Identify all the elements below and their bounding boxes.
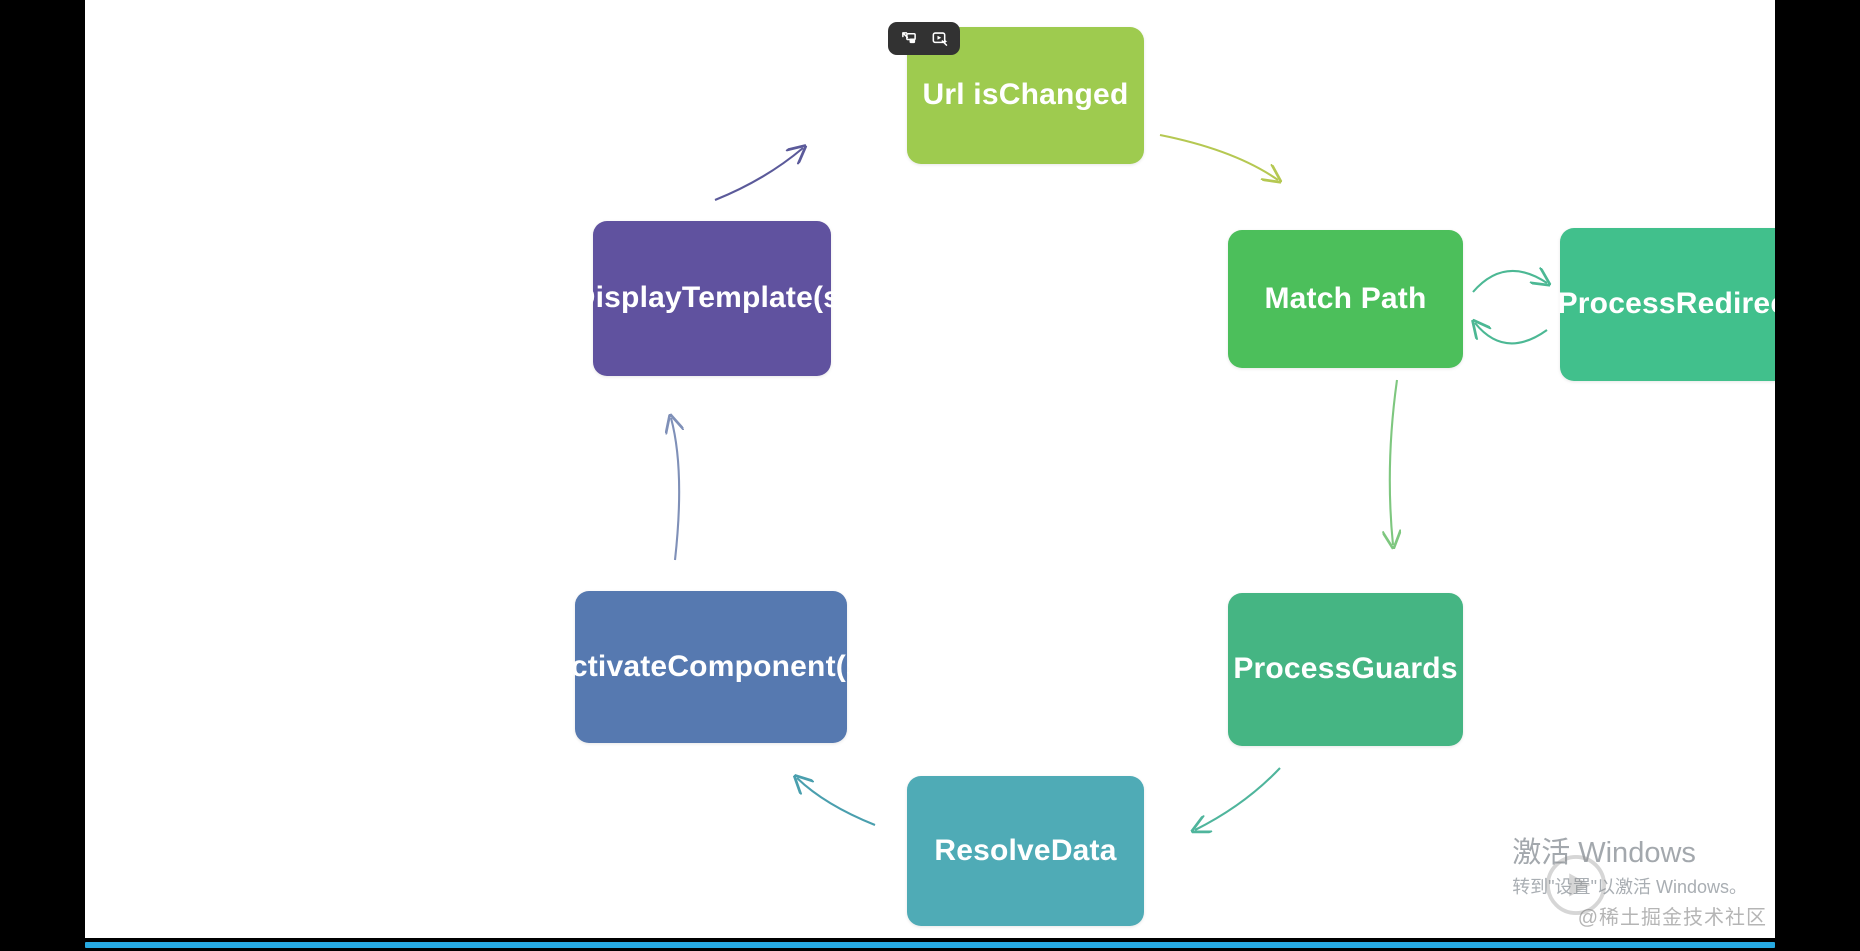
edge-redirect-to-match bbox=[1475, 323, 1547, 343]
node-label-line: Url is bbox=[923, 77, 999, 114]
edge-activate-to-display bbox=[671, 418, 679, 560]
video-floating-toolbar[interactable] bbox=[888, 22, 960, 55]
node-label-line: Process bbox=[1233, 651, 1351, 688]
node-label-line: Resolve bbox=[934, 833, 1050, 870]
node-resolve-data[interactable]: ResolveData bbox=[907, 776, 1144, 926]
node-label-line: Redirect bbox=[1676, 286, 1775, 323]
node-label-line: Component(s) bbox=[667, 649, 873, 686]
node-process-guards[interactable]: ProcessGuards bbox=[1228, 593, 1463, 746]
video-progress-fill[interactable] bbox=[85, 942, 1775, 948]
node-label-line: Template(s) bbox=[682, 280, 850, 317]
edge-match-to-guards bbox=[1390, 380, 1397, 545]
video-player-screen: Url isChanged Match Path ProcessRedirect… bbox=[0, 0, 1860, 951]
site-watermark: @稀土掘金技术社区 bbox=[1578, 901, 1767, 930]
node-activate-components[interactable]: ActivateComponent(s) bbox=[575, 591, 847, 743]
edge-url-to-match bbox=[1160, 135, 1278, 180]
video-progress-track[interactable] bbox=[0, 938, 1860, 951]
node-label-line: Display bbox=[574, 280, 682, 317]
diagram-canvas: Url isChanged Match Path ProcessRedirect… bbox=[85, 0, 1775, 938]
node-display-templates[interactable]: DisplayTemplate(s) bbox=[593, 221, 831, 376]
edge-match-to-redirect bbox=[1473, 271, 1547, 292]
node-label-line: Guards bbox=[1351, 651, 1457, 688]
letterbox-right bbox=[1775, 0, 1860, 951]
letterbox-left bbox=[0, 0, 85, 951]
node-label-line: Changed bbox=[999, 77, 1129, 114]
node-process-redirect[interactable]: ProcessRedirect bbox=[1560, 228, 1775, 381]
edge-resolve-to-activate bbox=[797, 778, 875, 825]
node-label-line: Process bbox=[1558, 286, 1676, 323]
node-match-path[interactable]: Match Path bbox=[1228, 230, 1463, 368]
edge-display-to-url bbox=[715, 148, 803, 200]
picture-in-picture-icon[interactable] bbox=[895, 26, 922, 51]
node-label-line: Match Path bbox=[1264, 281, 1426, 318]
node-label-line: Data bbox=[1051, 833, 1117, 870]
node-label-line: Activate bbox=[549, 649, 667, 686]
edge-guards-to-resolve bbox=[1195, 768, 1280, 830]
ai-video-icon[interactable] bbox=[926, 26, 953, 51]
